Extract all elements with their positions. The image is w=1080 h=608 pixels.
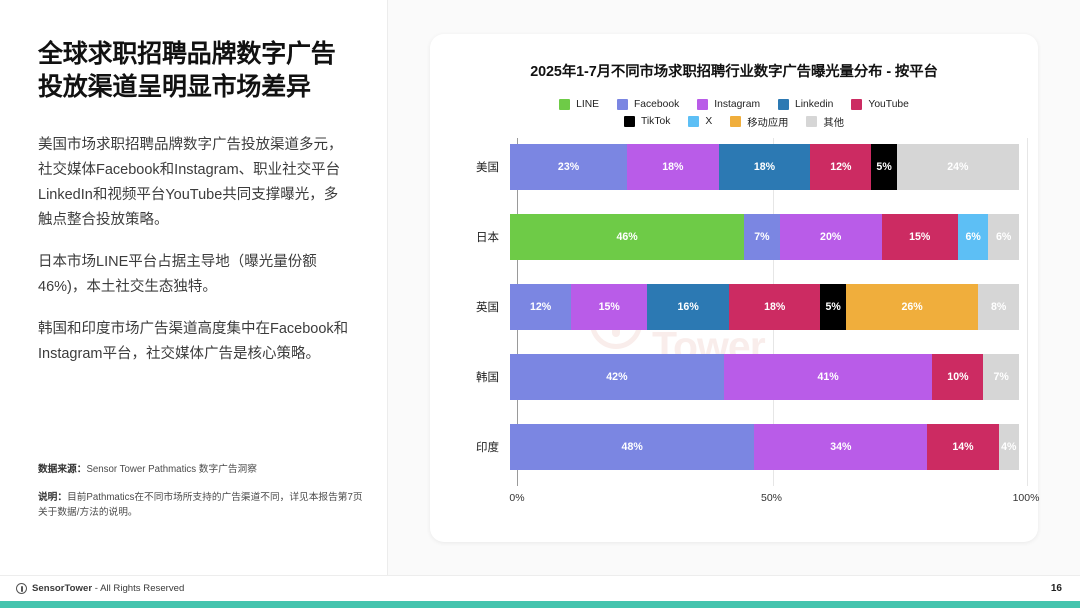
chart-plot-area: Sensor Tower 美国23%18%18%12%5%24%日本46%7%2… [450,138,1018,510]
gridline-100 [1027,138,1028,486]
chart-card: 2025年1-7月不同市场求职招聘行业数字广告曝光量分布 - 按平台 LINEF… [430,34,1038,542]
legend-item-Instagram[interactable]: Instagram [697,99,760,110]
x-tick-label: 50% [761,492,782,504]
method-note: 说明：目前Pathmatics在不同市场所支持的广告渠道不同，详见本报告第7页关… [38,490,368,520]
bar-segment-label: 14% [952,441,973,453]
body-copy: 美国市场求职招聘品牌数字广告投放渠道多元，社交媒体Facebook和Instag… [38,133,354,367]
footer-rights: - All Rights Reserved [92,583,184,594]
chart-legend: LINEFacebookInstagramLinkedinYouTubeTikT… [430,99,1038,129]
legend-swatch-icon [624,116,635,127]
bar-segment-label: 12% [530,301,551,313]
bar-segment-Facebook[interactable]: 7% [744,214,780,260]
x-tick-label: 100% [1013,492,1040,504]
x-axis-ticks: 0%50%100% [517,490,1018,510]
category-label: 韩国 [450,369,510,385]
legend-swatch-icon [778,99,789,110]
footer: SensorTower - All Rights Reserved 16 [0,575,1080,601]
bar-segment-TikTok[interactable]: 5% [820,284,845,330]
bar-segment-label: 41% [818,371,839,383]
bar-row-英国: 英国12%15%16%18%5%26%8% [450,284,1018,330]
bar-segment-label: 5% [876,161,891,173]
bar-segment-YouTube[interactable]: 12% [810,144,871,190]
bar-segment-Instagram[interactable]: 41% [724,354,933,400]
legend-label: Instagram [714,99,760,110]
bar-segment-label: 26% [901,301,922,313]
legend-swatch-icon [806,116,817,127]
legend-label: Facebook [634,99,679,110]
bar-segment-label: 16% [678,301,699,313]
bar-row-印度: 印度48%34%14%4% [450,424,1018,470]
bar-track: 42%41%10%7% [510,354,1019,400]
body-paragraph-2: 日本市场LINE平台占据主导地（曝光量份额46%)，本土社交生态独特。 [38,250,350,300]
category-label: 英国 [450,299,510,315]
bar-segment-移动应用[interactable]: 26% [846,284,978,330]
bar-segment-其他[interactable]: 4% [999,424,1019,470]
legend-item-LINE[interactable]: LINE [559,99,599,110]
page-number: 16 [1051,583,1062,594]
legend-swatch-icon [730,116,741,127]
bar-segment-label: 34% [830,441,851,453]
legend-item-其他[interactable]: 其他 [806,114,844,129]
legend-item-移动应用[interactable]: 移动应用 [730,114,788,129]
sensor-tower-logo-icon [16,583,27,594]
bottom-accent-bar [0,601,1080,608]
bar-segment-Facebook[interactable]: 12% [510,284,571,330]
chart-panel: 2025年1-7月不同市场求职招聘行业数字广告曝光量分布 - 按平台 LINEF… [388,0,1080,575]
legend-item-Linkedin[interactable]: Linkedin [778,99,833,110]
bar-segment-label: 20% [820,231,841,243]
bar-segment-Linkedin[interactable]: 16% [647,284,728,330]
category-label: 美国 [450,159,510,175]
bar-row-韩国: 韩国42%41%10%7% [450,354,1018,400]
bar-segment-label: 18% [754,161,775,173]
legend-label: 移动应用 [747,114,788,129]
bar-segment-其他[interactable]: 24% [897,144,1019,190]
legend-label: TikTok [641,116,670,127]
legend-swatch-icon [688,116,699,127]
bar-segment-label: 46% [616,231,637,243]
body-paragraph-1: 美国市场求职招聘品牌数字广告投放渠道多元，社交媒体Facebook和Instag… [38,133,350,233]
bar-segment-YouTube[interactable]: 10% [932,354,983,400]
body-paragraph-3: 韩国和印度市场广告渠道高度集中在Facebook和Instagram平台，社交媒… [38,317,350,367]
bar-segment-Instagram[interactable]: 20% [780,214,882,260]
bar-segment-其他[interactable]: 6% [988,214,1019,260]
bar-segment-label: 15% [909,231,930,243]
bar-segment-label: 23% [558,161,579,173]
bar-segment-label: 18% [662,161,683,173]
bar-segment-label: 8% [991,301,1006,313]
legend-label: YouTube [868,99,908,110]
legend-label: X [705,116,712,127]
bar-segment-YouTube[interactable]: 14% [927,424,998,470]
footer-brand: SensorTower - All Rights Reserved [16,583,184,594]
bar-track: 48%34%14%4% [510,424,1019,470]
legend-swatch-icon [559,99,570,110]
footer-brand-name: SensorTower [32,583,92,594]
footer-text: SensorTower - All Rights Reserved [32,583,184,594]
bar-segment-label: 42% [606,371,627,383]
legend-label: Linkedin [795,99,833,110]
legend-row-2: TikTokX移动应用其他 [615,114,853,129]
bar-segment-YouTube[interactable]: 15% [882,214,958,260]
x-tick-label: 0% [509,492,524,504]
bar-segment-Facebook[interactable]: 48% [510,424,754,470]
bar-segment-Facebook[interactable]: 42% [510,354,724,400]
legend-label: 其他 [823,114,844,129]
bar-segment-Linkedin[interactable]: 18% [719,144,811,190]
bar-segment-其他[interactable]: 7% [983,354,1019,400]
category-label: 印度 [450,439,510,455]
bar-segment-label: 6% [996,231,1011,243]
bar-segment-label: 18% [764,301,785,313]
bar-row-日本: 日本46%7%20%15%6%6% [450,214,1018,260]
bar-segment-Instagram[interactable]: 15% [571,284,647,330]
bar-segment-X[interactable]: 6% [958,214,989,260]
bar-segment-label: 5% [826,301,841,313]
legend-item-Facebook[interactable]: Facebook [617,99,679,110]
bar-segment-label: 7% [754,231,769,243]
bar-segment-Instagram[interactable]: 34% [754,424,927,470]
legend-swatch-icon [697,99,708,110]
bar-segment-TikTok[interactable]: 5% [871,144,896,190]
bar-track: 46%7%20%15%6%6% [510,214,1019,260]
bar-segment-label: 4% [1001,441,1016,453]
bar-segment-label: 10% [947,371,968,383]
method-note-value: 目前Pathmatics在不同市场所支持的广告渠道不同，详见本报告第7页关于数据… [38,492,363,518]
bar-segment-LINE[interactable]: 46% [510,214,744,260]
bar-segment-label: 6% [966,231,981,243]
legend-swatch-icon [617,99,628,110]
bar-row-美国: 美国23%18%18%12%5%24% [450,144,1018,190]
chart-title: 2025年1-7月不同市场求职招聘行业数字广告曝光量分布 - 按平台 [430,60,1038,81]
method-note-label: 说明： [38,492,67,503]
data-source-label: 数据来源： [38,464,86,475]
footnotes: 数据来源：Sensor Tower Pathmatics 数字广告洞察 说明：目… [38,462,368,520]
bar-segment-label: 24% [947,161,968,173]
bar-segment-label: 12% [830,161,851,173]
slide-root: 全球求职招聘品牌数字广告投放渠道呈明显市场差异 美国市场求职招聘品牌数字广告投放… [0,0,1080,608]
legend-item-YouTube[interactable]: YouTube [851,99,908,110]
page-title: 全球求职招聘品牌数字广告投放渠道呈明显市场差异 [38,38,354,103]
data-source-note: 数据来源：Sensor Tower Pathmatics 数字广告洞察 [38,462,368,477]
bar-segment-Instagram[interactable]: 18% [627,144,719,190]
legend-swatch-icon [851,99,862,110]
bar-track: 12%15%16%18%5%26%8% [510,284,1019,330]
bar-track: 23%18%18%12%5%24% [510,144,1019,190]
legend-row-1: LINEFacebookInstagramLinkedinYouTube [550,99,918,110]
bar-segment-label: 48% [622,441,643,453]
category-label: 日本 [450,229,510,245]
bar-segment-YouTube[interactable]: 18% [729,284,821,330]
legend-item-X[interactable]: X [688,116,712,127]
legend-item-TikTok[interactable]: TikTok [624,116,670,127]
bar-segment-其他[interactable]: 8% [978,284,1019,330]
data-source-value: Sensor Tower Pathmatics 数字广告洞察 [86,464,256,475]
bar-segment-label: 7% [994,371,1009,383]
bar-segment-label: 15% [599,301,620,313]
bar-segment-Facebook[interactable]: 23% [510,144,627,190]
legend-label: LINE [576,99,599,110]
